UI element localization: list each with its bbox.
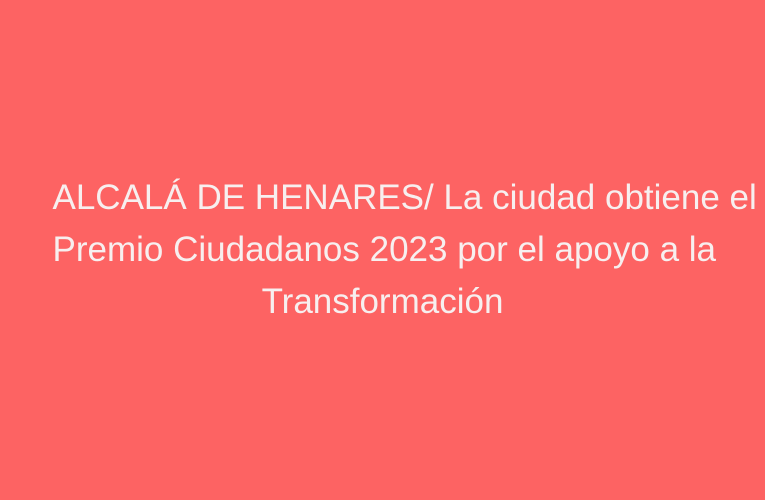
headline-line-2: Premio Ciudadanos 2023 por el apoyo a la [53, 224, 713, 276]
headline-line-1: ALCALÁ DE HENARES/ La ciudad obtiene el [53, 172, 713, 224]
headline-line-3: Transformación [53, 276, 713, 328]
article-headline-banner: ALCALÁ DE HENARES/ La ciudad obtiene el … [0, 0, 765, 500]
page-title: ALCALÁ DE HENARES/ La ciudad obtiene el … [53, 172, 713, 328]
